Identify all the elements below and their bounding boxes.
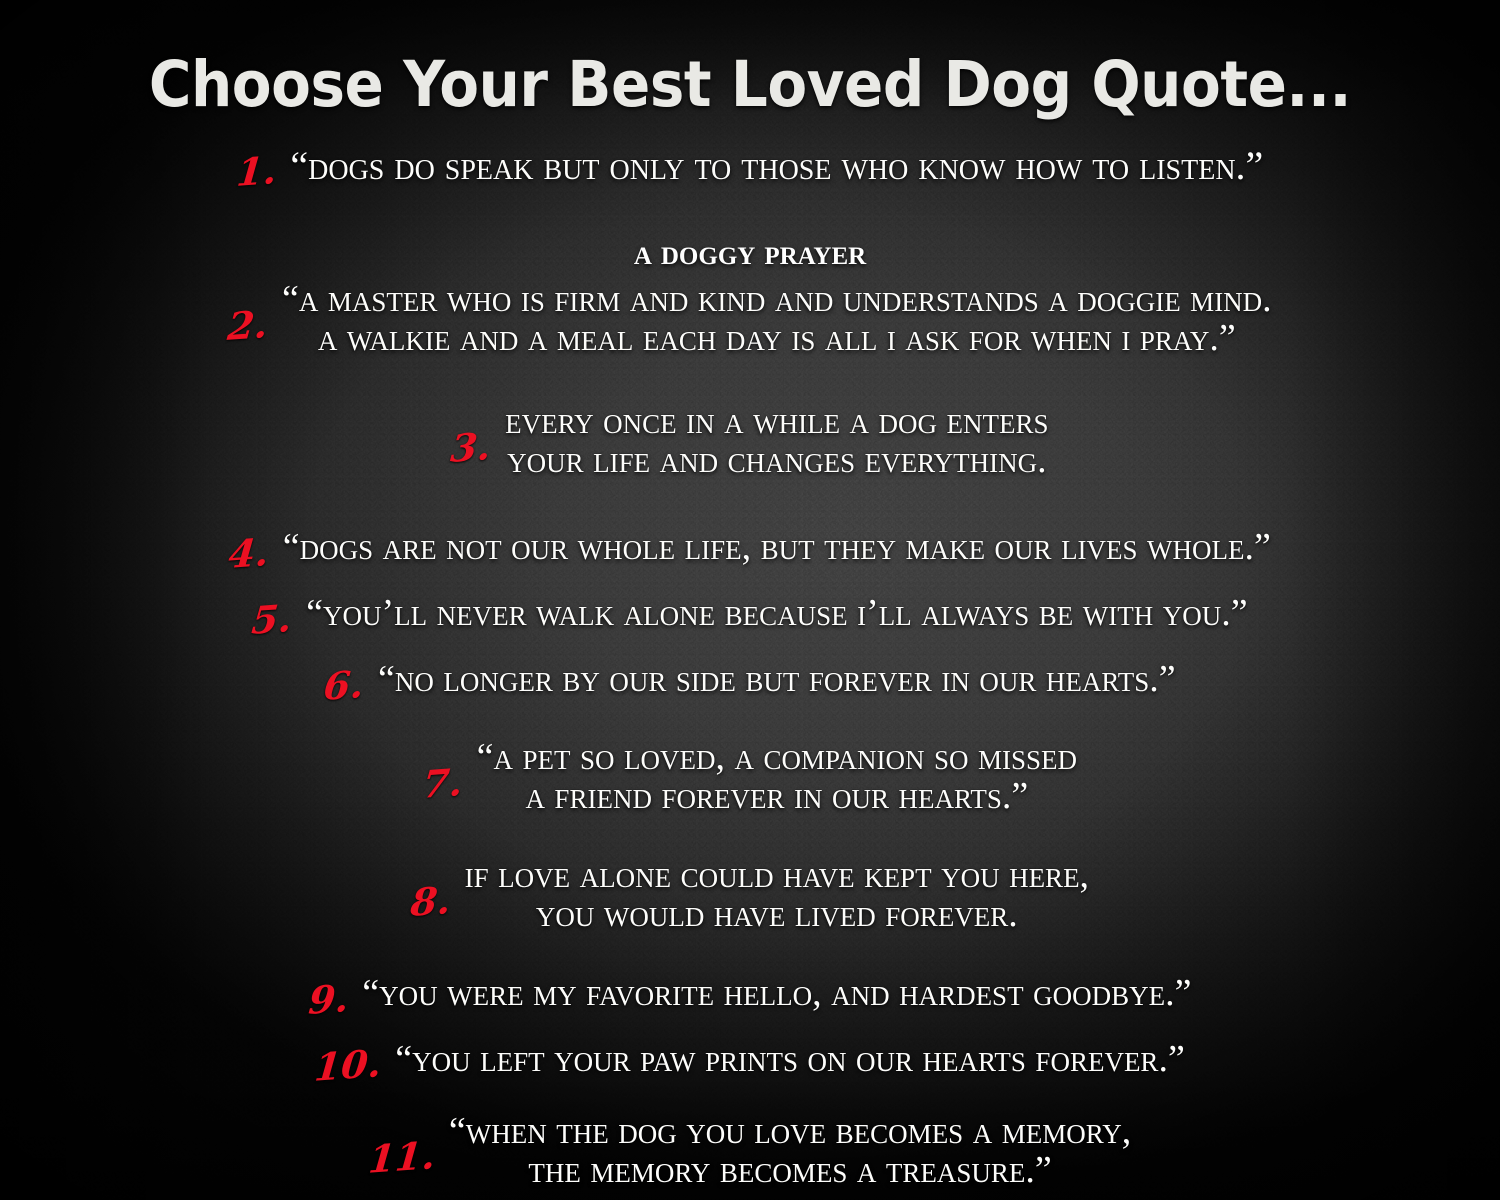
quote-option-8[interactable]: 8. If love alone could have kept you her… — [0, 856, 1500, 940]
quote-text-9: “You were my Favorite Hello, And Hardest… — [362, 974, 1191, 1013]
quote-text-7: “A pet so loved, a companion so missed a… — [477, 738, 1077, 816]
quote-option-2[interactable]: 2. “A master who is firm and kind and un… — [0, 280, 1500, 360]
quote-text-10: “You Left Your Paw Prints on our hearts … — [395, 1040, 1185, 1079]
quote-number-3: 3. — [450, 426, 507, 468]
quote-number-7: 7. — [421, 762, 478, 804]
quote-text-1: “Dogs do speak but only to those who kno… — [290, 146, 1263, 187]
quote-number-6: 6. — [322, 664, 379, 706]
quote-number-1: 1. — [235, 150, 292, 192]
quote-text-8: If love alone could have kept you here, … — [465, 856, 1089, 934]
quote-option-11[interactable]: 11. “When the dog you love becomes a mem… — [0, 1112, 1500, 1196]
prayer-heading-row: A Doggy Prayer — [0, 234, 1500, 280]
quote-number-2: 2. — [226, 304, 283, 346]
quote-option-3[interactable]: 3. Every once in a while a dog enters yo… — [0, 402, 1500, 486]
quote-number-4: 4. — [227, 532, 284, 574]
quote-option-10[interactable]: 10. “You Left Your Paw Prints on our hea… — [0, 1040, 1500, 1096]
poster-content: Choose Your Best Loved Dog Quote... 1. “… — [0, 0, 1500, 1200]
quote-number-11: 11. — [367, 1135, 451, 1178]
prayer-heading: A Doggy Prayer — [0, 234, 1500, 270]
quote-option-5[interactable]: 5. “You’ll never walk alone because I’ll… — [0, 594, 1500, 650]
quote-option-7[interactable]: 7. “A pet so loved, a companion so misse… — [0, 738, 1500, 822]
quote-text-5: “You’ll never walk alone because I’ll al… — [306, 594, 1247, 633]
quote-text-6: “No longer by our side but forever in ou… — [378, 660, 1176, 699]
quote-number-10: 10. — [313, 1043, 397, 1086]
quote-number-9: 9. — [307, 978, 364, 1020]
quote-text-4: “Dogs are not our whole life, but they m… — [283, 528, 1271, 567]
quote-list: 1. “Dogs do speak but only to those who … — [0, 146, 1500, 1200]
dog-quote-poster: Choose Your Best Loved Dog Quote... 1. “… — [0, 0, 1500, 1200]
quote-option-9[interactable]: 9. “You were my Favorite Hello, And Hard… — [0, 974, 1500, 1030]
quote-option-1[interactable]: 1. “Dogs do speak but only to those who … — [0, 146, 1500, 216]
quote-number-8: 8. — [409, 880, 466, 922]
quote-option-6[interactable]: 6. “No longer by our side but forever in… — [0, 660, 1500, 716]
quote-text-3: Every once in a while a dog enters your … — [505, 402, 1048, 480]
page-title: Choose Your Best Loved Dog Quote... — [60, 48, 1440, 121]
quote-option-4[interactable]: 4. “Dogs are not our whole life, but the… — [0, 528, 1500, 584]
quote-text-11: “When the dog you love becomes a memory,… — [449, 1112, 1131, 1190]
quote-number-5: 5. — [251, 598, 308, 640]
quote-text-2: “A master who is firm and kind and under… — [282, 280, 1272, 358]
